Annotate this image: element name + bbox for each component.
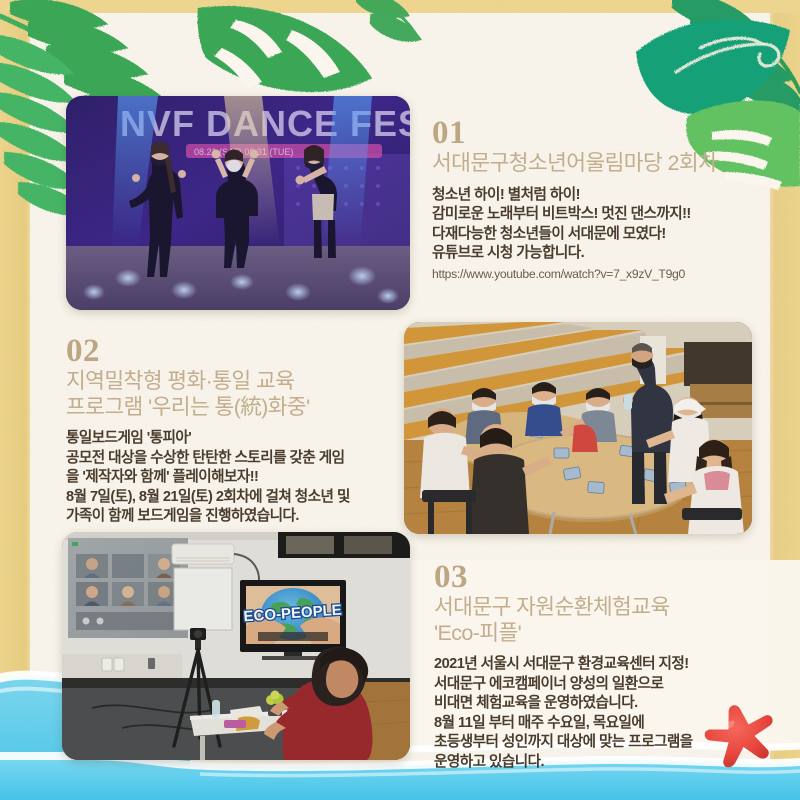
section-01-youtube-link[interactable]: https://www.youtube.com/watch?v=7_x9zV_T…: [432, 267, 752, 281]
board-game-photo[interactable]: [404, 322, 752, 534]
section-02-number: 02: [66, 336, 402, 367]
dance-festival-photo[interactable]: NVF DANCE FESTIV 08.21 (SAT) 08.31 (TUE): [66, 96, 410, 310]
section-03-number: 03: [434, 562, 764, 593]
section-03-body: 2021년 서울시 서대문구 환경교육센터 지정! 서대문구 에코캠페이너 양성…: [434, 655, 764, 772]
section-01-body: 청소년 하이! 별처럼 하이! 감미로운 노래부터 비트박스! 멋진 댄스까지!…: [432, 186, 752, 264]
section-03-title: 서대문구 자원순환체험교육 'Eco-피플': [434, 595, 764, 646]
top-sand-band: [0, 0, 800, 13]
section-03: 03 서대문구 자원순환체험교육 'Eco-피플' 2021년 서울시 서대문구…: [434, 562, 764, 772]
section-02: 02 지역밀착형 평화·통일 교육 프로그램 '우리는 통(統)화중' 통일보드…: [66, 336, 402, 527]
section-02-title: 지역밀착형 평화·통일 교육 프로그램 '우리는 통(統)화중': [66, 369, 402, 420]
eco-people-photo[interactable]: ECO-PEOPLE: [62, 532, 410, 760]
newsletter-poster: NVF DANCE FESTIV 08.21 (SAT) 08.31 (TUE): [0, 0, 800, 800]
section-01-title: 서대문구청소년어울림마당 2회차: [432, 151, 752, 176]
section-02-body: 통일보드게임 '통피아' 공모전 대상을 수상한 탄탄한 스토리를 갖춘 게임 …: [66, 429, 402, 527]
section-01: 01 서대문구청소년어울림마당 2회차 청소년 하이! 별처럼 하이! 감미로운…: [432, 118, 752, 281]
section-01-number: 01: [432, 118, 752, 149]
